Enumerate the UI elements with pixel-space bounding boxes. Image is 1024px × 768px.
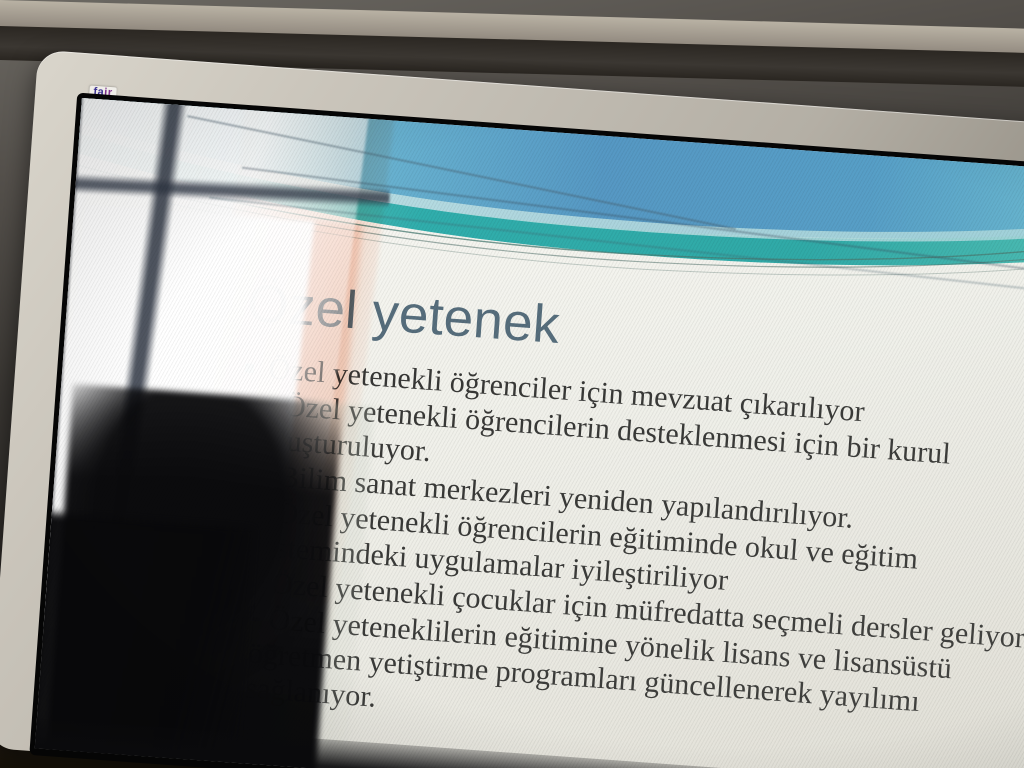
slide-bullet-list: Özel yetenekli öğrenciler için mevzuat ç… [218, 349, 1024, 763]
slide-title: Özel yetenek [245, 275, 561, 355]
photo-scene: fair [0, 0, 1024, 768]
powerpoint-slide: Özel yetenek Özel yetenekli öğrenciler i… [35, 98, 1024, 768]
monitor-bezel: fair [0, 50, 1024, 768]
monitor: fair [0, 26, 1024, 768]
screen: Özel yetenek Özel yetenekli öğrenciler i… [35, 98, 1024, 768]
bullet-square-icon [245, 363, 255, 373]
bullet-dot-icon [225, 612, 237, 624]
